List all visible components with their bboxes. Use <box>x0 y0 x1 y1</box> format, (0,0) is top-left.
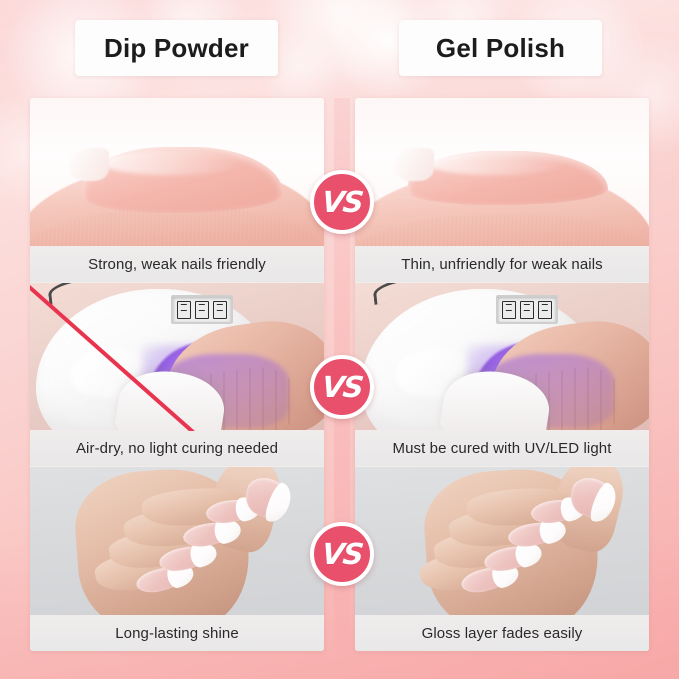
header-tab-dip-powder: Dip Powder <box>75 20 278 76</box>
display-digit <box>195 301 209 319</box>
nail-shine-highlight <box>101 151 242 175</box>
comparison-cell: Long-lasting shine <box>30 466 324 651</box>
nail-free-edge <box>393 148 434 181</box>
header-tab-label: Dip Powder <box>104 33 249 64</box>
comparison-cell: Must be cured with UV/LED light <box>355 282 649 466</box>
cell-caption-text: Must be cured with UV/LED light <box>392 440 611 457</box>
french-manicure-hand-photo <box>355 467 649 615</box>
nail-macro-thin-photo <box>355 98 649 246</box>
comparison-column-dip-powder: Strong, weak nails friendly <box>30 98 324 651</box>
cell-caption: Gloss layer fades easily <box>355 615 649 651</box>
uv-lamp-photo <box>30 283 324 431</box>
cell-caption: Must be cured with UV/LED light <box>355 430 649 466</box>
header-tab-gel-polish: Gel Polish <box>399 20 602 76</box>
vs-badge: VS <box>310 355 374 419</box>
comparison-cell: Thin, unfriendly for weak nails <box>355 98 649 282</box>
comparison-cell: Gloss layer fades easily <box>355 466 649 651</box>
cell-caption: Air-dry, no light curing needed <box>30 430 324 466</box>
nail-macro-thick-photo <box>30 98 324 246</box>
comparison-cell: Strong, weak nails friendly <box>30 98 324 282</box>
comparison-column-gel-polish: Thin, unfriendly for weak nails <box>355 98 649 651</box>
nail-free-edge <box>68 148 109 181</box>
cell-caption-text: Gloss layer fades easily <box>422 625 583 642</box>
french-manicure-illustration <box>30 467 324 615</box>
vs-badge-label: VS <box>320 185 364 219</box>
french-manicure-illustration <box>355 467 649 615</box>
display-digit <box>538 301 552 319</box>
cell-caption-text: Air-dry, no light curing needed <box>76 440 278 457</box>
nail-macro-illustration <box>355 98 649 246</box>
vs-badge: VS <box>310 170 374 234</box>
uv-lamp-illustration <box>355 283 649 431</box>
uv-lamp-photo <box>355 283 649 431</box>
nail-macro-illustration <box>30 98 324 246</box>
display-digit <box>520 301 534 319</box>
display-digit <box>177 301 191 319</box>
comparison-cell: Air-dry, no light curing needed <box>30 282 324 466</box>
uv-lamp-illustration <box>30 283 324 431</box>
display-digit <box>213 301 227 319</box>
vs-badge: VS <box>310 522 374 586</box>
vs-badge-label: VS <box>320 370 364 404</box>
lamp-timer-display <box>496 295 558 325</box>
cell-caption-text: Strong, weak nails friendly <box>88 256 266 273</box>
cell-caption-text: Long-lasting shine <box>115 625 239 642</box>
french-manicure-hand-photo <box>30 467 324 615</box>
header-tab-label: Gel Polish <box>436 33 565 64</box>
cell-caption-text: Thin, unfriendly for weak nails <box>401 256 603 273</box>
display-digit <box>502 301 516 319</box>
vs-badge-label: VS <box>320 537 364 571</box>
cell-caption: Thin, unfriendly for weak nails <box>355 246 649 282</box>
cell-caption: Strong, weak nails friendly <box>30 246 324 282</box>
cell-caption: Long-lasting shine <box>30 615 324 651</box>
nail-shine-highlight <box>426 151 567 175</box>
lamp-timer-display <box>171 295 233 325</box>
